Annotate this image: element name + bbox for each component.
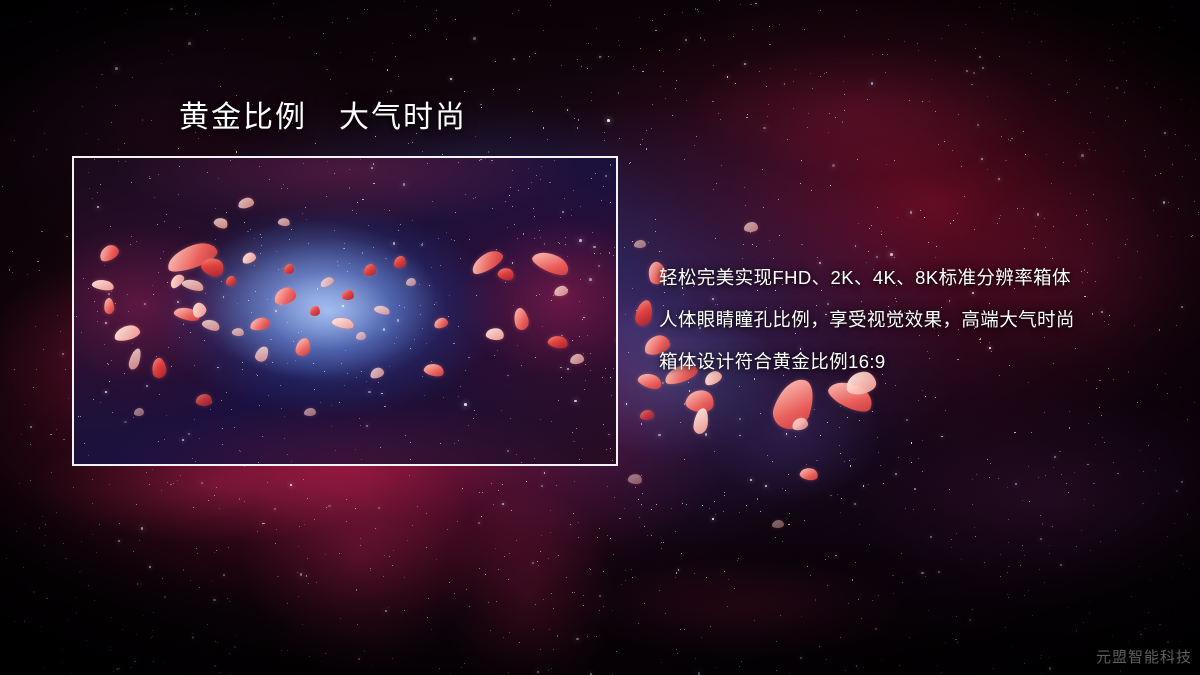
petal <box>249 317 270 332</box>
petal <box>231 327 244 337</box>
petal <box>634 299 653 327</box>
petal <box>744 222 758 232</box>
page-title: 黄金比例 大气时尚 <box>179 101 467 135</box>
petal <box>693 407 710 434</box>
petal <box>127 347 142 371</box>
petal <box>423 361 446 378</box>
petal <box>272 286 297 307</box>
petal <box>547 334 569 350</box>
image-frame <box>72 156 618 466</box>
petal <box>570 353 585 364</box>
petal <box>113 323 141 342</box>
body-text-block: 轻松完美实现FHD、2K、4K、8K标准分辨率箱体 人体眼睛瞳孔比例，享受视觉效… <box>659 257 1179 383</box>
petal <box>406 278 416 286</box>
petal <box>226 276 236 286</box>
petal <box>369 366 385 379</box>
petal <box>150 357 167 379</box>
petal <box>97 242 121 263</box>
petal <box>310 306 320 316</box>
presentation-slide: 黄金比例 大气时尚 轻松完美实现FHD、2K、4K、8K标准分辨率箱体 人体眼睛… <box>0 0 1200 675</box>
petal <box>799 466 819 482</box>
petal <box>553 285 568 297</box>
petal <box>772 520 784 528</box>
petal <box>91 278 115 292</box>
petal <box>496 266 515 283</box>
petal <box>634 240 646 248</box>
petal <box>364 264 376 276</box>
petal <box>181 277 205 293</box>
petal <box>433 317 449 330</box>
petal <box>304 408 316 416</box>
petal <box>356 332 366 340</box>
petal <box>640 410 654 420</box>
image-frame-content <box>74 158 616 464</box>
petal <box>254 344 271 363</box>
petal <box>277 217 290 227</box>
petal <box>319 276 335 289</box>
petal <box>134 408 144 416</box>
petal <box>201 317 221 333</box>
body-line-1: 轻松完美实现FHD、2K、4K、8K标准分辨率箱体 <box>659 257 1179 299</box>
petal <box>373 304 391 317</box>
petal <box>195 393 213 407</box>
petal <box>213 216 230 231</box>
petal <box>241 251 257 265</box>
petal <box>530 247 572 280</box>
petal <box>342 290 354 300</box>
petal <box>627 473 643 485</box>
petal <box>103 297 115 314</box>
petal <box>511 306 531 331</box>
petal <box>331 315 355 330</box>
panel-starfield <box>74 158 616 464</box>
petal <box>237 197 254 210</box>
body-line-2: 人体眼睛瞳孔比例，享受视觉效果，高端大气时尚 <box>659 299 1179 341</box>
petal <box>485 327 505 342</box>
watermark: 元盟智能科技 <box>1096 646 1192 667</box>
petal <box>394 256 406 268</box>
petal <box>295 337 311 357</box>
body-line-3: 箱体设计符合黄金比例16:9 <box>659 341 1179 383</box>
petal <box>284 264 294 274</box>
